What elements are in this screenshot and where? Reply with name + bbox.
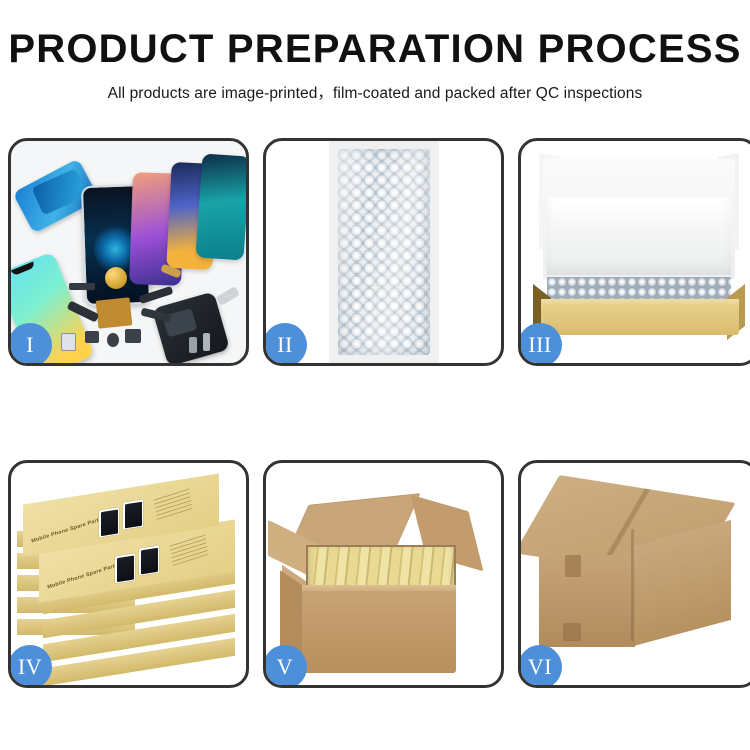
header: PRODUCT PREPARATION PROCESS All products…: [0, 0, 750, 103]
lcd-photo-icon: [115, 553, 135, 583]
carton-front-panel: [539, 555, 635, 647]
small-part-icon: [85, 331, 99, 343]
screwdriver-icon: [189, 337, 197, 353]
steps-grid: I II III: [8, 138, 742, 688]
step-badge-3: III: [518, 323, 562, 366]
carton-vertical-edge: [631, 529, 634, 642]
box-front-panel: [541, 305, 739, 335]
step-badge-2: II: [263, 323, 307, 366]
lcd-photo-icon: [139, 546, 159, 576]
lcd-photo-icon: [123, 500, 143, 530]
metal-bracket-icon: [216, 286, 240, 306]
step-badge-4: IV: [8, 645, 52, 688]
sim-tray-icon: [61, 333, 76, 351]
connector-strip-icon: [69, 283, 95, 290]
small-part-icon: [107, 333, 119, 347]
carton-tape-icon: [565, 555, 581, 577]
carton-front-panel: [302, 591, 456, 673]
chip-grid-icon: [96, 297, 133, 328]
step-badge-6: VI: [518, 645, 562, 688]
page-subtitle: All products are image-printed，film-coat…: [0, 81, 750, 103]
screwdriver-icon: [203, 333, 210, 351]
carton-tape-icon: [563, 623, 581, 641]
step-badge-5: V: [263, 645, 307, 688]
step-panel-1[interactable]: I: [8, 138, 249, 366]
foam-sheet-icon: [547, 197, 731, 275]
phone-teal-icon: [195, 153, 246, 260]
step-panel-5[interactable]: V: [263, 460, 504, 688]
lcd-photo-icon: [99, 507, 119, 537]
plastic-gloss-overlay: [338, 149, 430, 355]
step-panel-6[interactable]: VI: [518, 460, 750, 688]
step-badge-1: I: [8, 323, 52, 366]
box-stack: Mobile Phone Spare Parts Mobile Phone Sp…: [17, 483, 241, 673]
step-panel-3[interactable]: III: [518, 138, 750, 366]
small-part-icon: [125, 329, 141, 343]
page-title: PRODUCT PREPARATION PROCESS: [0, 28, 750, 70]
product-preparation-infographic: PRODUCT PREPARATION PROCESS All products…: [0, 0, 750, 750]
vibration-motor-icon: [105, 267, 127, 289]
step-panel-2[interactable]: II: [263, 138, 504, 366]
step-panel-4[interactable]: Mobile Phone Spare Parts Mobile Phone Sp…: [8, 460, 249, 688]
